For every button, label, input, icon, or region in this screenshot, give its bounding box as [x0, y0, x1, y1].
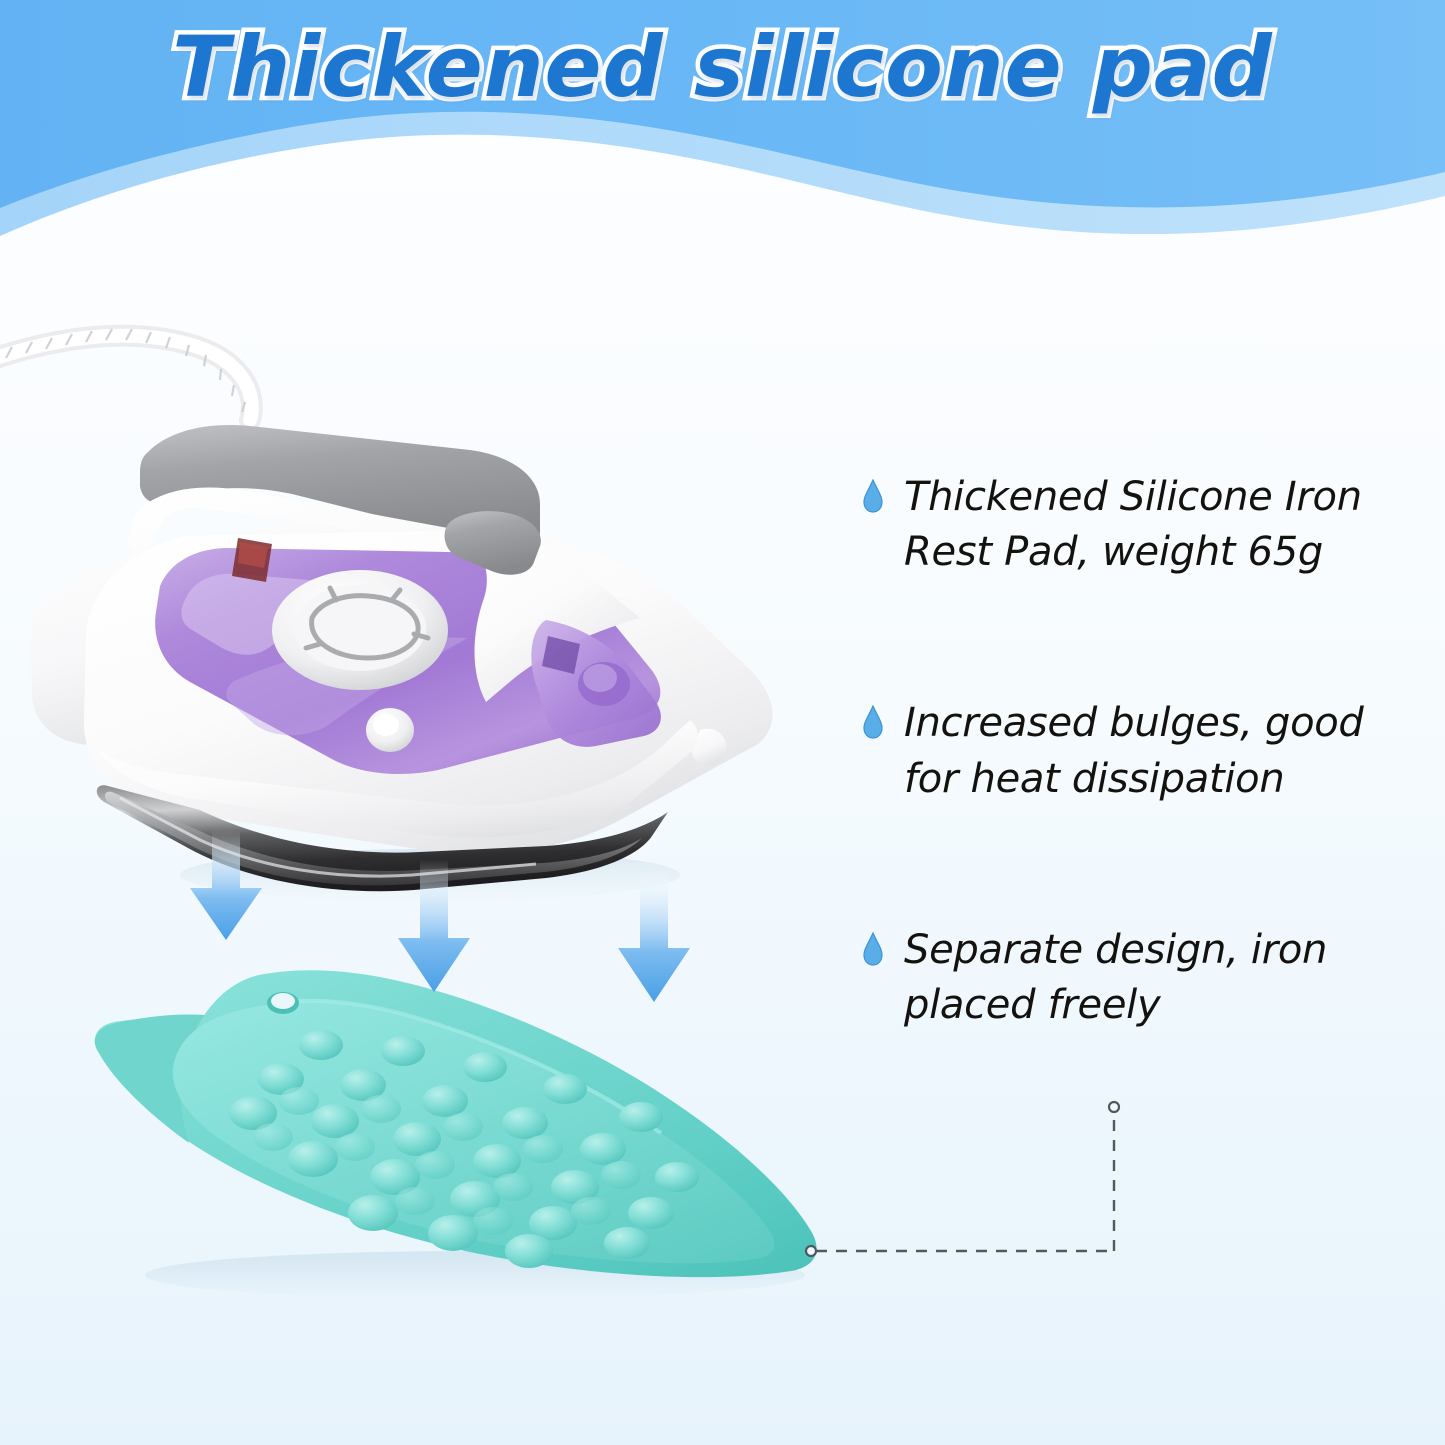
power-cord-icon: [0, 329, 252, 420]
feature-text: Thickened Silicone Iron Rest Pad, weight…: [904, 470, 1424, 580]
infographic-page: Thickened silicone pad: [0, 0, 1445, 1445]
down-arrow-icon: [398, 860, 470, 992]
water-drop-icon: [862, 932, 884, 966]
page-title: Thickened silicone pad: [0, 18, 1445, 116]
feature-list: Thickened Silicone Iron Rest Pad, weight…: [862, 470, 1432, 1033]
down-arrow-icon: [618, 868, 690, 1002]
callout-endpoint-top: [1109, 1102, 1119, 1112]
list-item: Thickened Silicone Iron Rest Pad, weight…: [862, 470, 1432, 580]
iron-temperature-knob: [272, 570, 448, 690]
callout-endpoint-left: [806, 1246, 816, 1256]
feature-text: Increased bulges, good for heat dissipat…: [904, 696, 1424, 806]
water-drop-icon: [862, 705, 884, 739]
list-item: Increased bulges, good for heat dissipat…: [862, 696, 1432, 806]
down-arrow-icon: [190, 830, 262, 940]
feature-text: Separate design, iron placed freely: [904, 923, 1424, 1033]
down-arrow-group: [170, 830, 730, 1030]
water-drop-icon: [862, 479, 884, 513]
steam-iron-icon: [0, 300, 800, 900]
list-item: Separate design, iron placed freely: [862, 923, 1432, 1033]
dashed-leader-line-icon: [780, 1080, 1180, 1300]
